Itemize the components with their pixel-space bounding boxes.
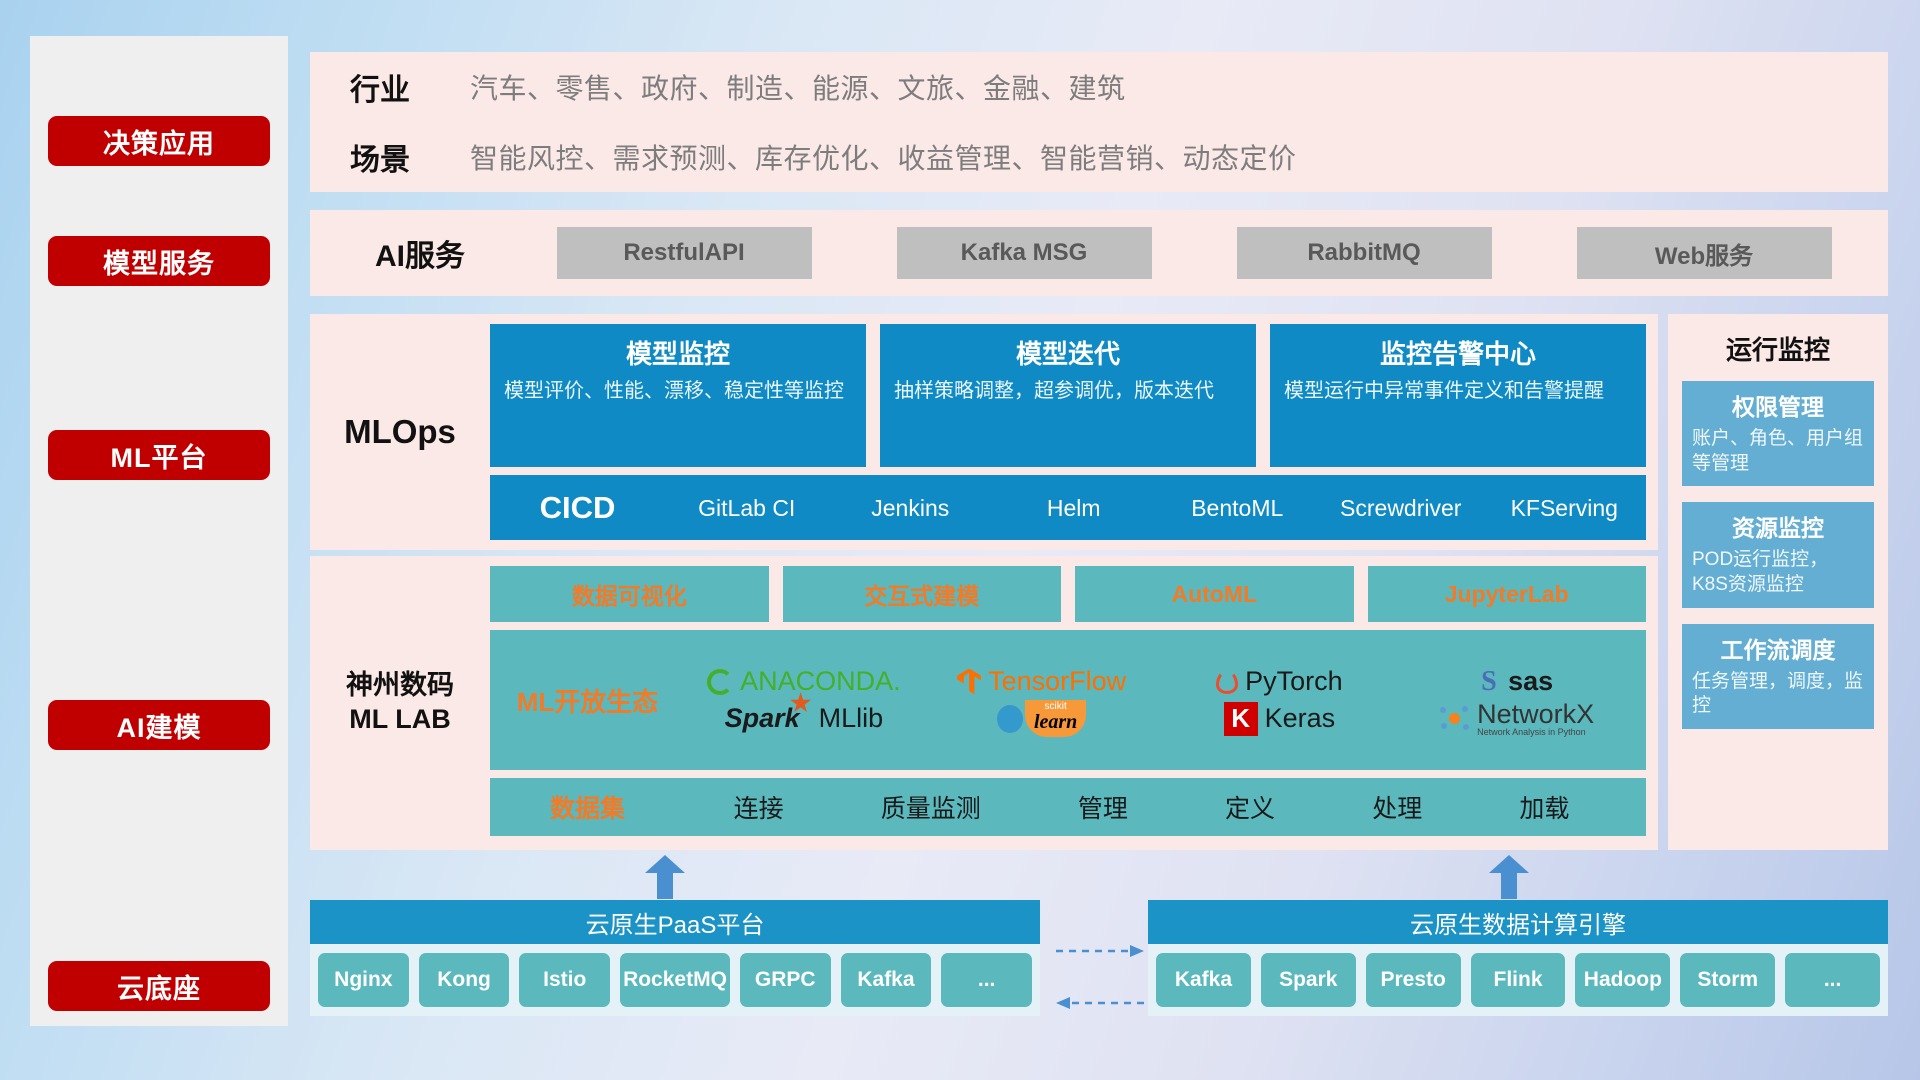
rail-item-label: ML平台 — [111, 436, 208, 475]
left-rail: 决策应用 模型服务 ML平台 AI建模 云底座 — [30, 36, 288, 1026]
anaconda-logo-text: ANACONDA. — [740, 666, 901, 697]
monitor-card-resource-monitoring[interactable]: 资源监控 POD运行监控，K8S资源监控 — [1682, 502, 1874, 607]
keras-mark-icon: K — [1224, 702, 1258, 736]
card-title: 工作流调度 — [1692, 631, 1864, 665]
paas-chip-more[interactable]: ... — [941, 953, 1032, 1007]
card-title: 监控告警中心 — [1284, 334, 1632, 371]
rail-item-ai-modeling[interactable]: AI建模 — [48, 700, 270, 750]
dataset-label: 数据集 — [490, 789, 685, 825]
tensorflow-logo-text: TensorFlow — [988, 666, 1126, 697]
ecosystem-logo-grid: ANACONDA. TensorFlow PyTorch S sas Spar — [685, 663, 1646, 737]
card-title: 模型迭代 — [894, 334, 1242, 371]
cloud-native-data-engine-chip-list: Kafka Spark Presto Flink Hadoop Storm ..… — [1148, 944, 1888, 1016]
sas-swirl-icon: S — [1481, 668, 1507, 696]
runtime-monitoring-title: 运行监控 — [1682, 330, 1874, 367]
upward-arrow-data-engine-icon — [1489, 855, 1529, 899]
cloud-native-paas-group: 云原生PaaS平台 Nginx Kong Istio RocketMQ GRPC… — [310, 900, 1040, 1016]
monitor-card-permission-management[interactable]: 权限管理 账户、角色、用户组等管理 — [1682, 381, 1874, 486]
mlops-band: MLOps 模型监控 模型评价、性能、漂移、稳定性等监控 模型迭代 抽样策略调整… — [310, 314, 1658, 550]
cicd-item-jenkins[interactable]: Jenkins — [829, 496, 993, 520]
keras-logo: K Keras — [1224, 702, 1336, 736]
cloud-native-paas-chip-list: Nginx Kong Istio RocketMQ GRPC Kafka ... — [310, 944, 1040, 1016]
paas-chip-grpc[interactable]: GRPC — [740, 953, 831, 1007]
ml-open-ecosystem-label: ML开放生态 — [490, 682, 685, 719]
card-title: 模型监控 — [504, 334, 852, 371]
tool-data-visualization[interactable]: 数据可视化 — [490, 566, 769, 622]
tool-jupyterlab[interactable]: JupyterLab — [1368, 566, 1647, 622]
tool-automl[interactable]: AutoML — [1075, 566, 1354, 622]
tool-interactive-modeling[interactable]: 交互式建模 — [783, 566, 1062, 622]
cicd-row: CICD GitLab CI Jenkins Helm BentoML Scre… — [490, 475, 1646, 540]
ai-service-chip-kafka-msg[interactable]: Kafka MSG — [897, 227, 1152, 279]
networkx-logo-text: NetworkX — [1477, 699, 1594, 729]
card-desc: 任务管理，调度，监控 — [1692, 670, 1864, 719]
mlops-label: MLOps — [310, 314, 490, 550]
dashed-arrow-left-icon — [1056, 996, 1144, 1010]
networkx-tagline: Network Analysis in Python — [1477, 728, 1594, 737]
dataset-item-quality-monitoring[interactable]: 质量监测 — [881, 789, 981, 825]
card-desc: POD运行监控，K8S资源监控 — [1692, 548, 1864, 597]
dataset-item-loading[interactable]: 加载 — [1519, 789, 1569, 825]
upward-arrow-paas-icon — [645, 855, 685, 899]
cicd-item-screwdriver[interactable]: Screwdriver — [1319, 496, 1483, 520]
ai-service-chip-restfulapi[interactable]: RestfulAPI — [557, 227, 812, 279]
networkx-logo: NetworkX Network Analysis in Python — [1440, 701, 1594, 737]
monitor-card-workflow-scheduling[interactable]: 工作流调度 任务管理，调度，监控 — [1682, 624, 1874, 729]
dataset-item-connect[interactable]: 连接 — [734, 789, 784, 825]
ai-service-chip-web-service[interactable]: Web服务 — [1577, 227, 1832, 279]
mlops-card-list: 模型监控 模型评价、性能、漂移、稳定性等监控 模型迭代 抽样策略调整，超参调优，… — [490, 324, 1646, 467]
ai-service-chip-list: RestfulAPI Kafka MSG RabbitMQ Web服务 — [500, 227, 1888, 279]
scenario-row: 场景 智能风控、需求预测、库存优化、收益管理、智能营销、动态定价 — [310, 122, 1888, 192]
pytorch-logo: PyTorch — [1216, 666, 1343, 697]
sas-logo-text: sas — [1508, 666, 1553, 697]
dataset-item-list: 连接 质量监测 管理 定义 处理 加载 — [685, 789, 1646, 825]
dataset-item-processing[interactable]: 处理 — [1372, 789, 1422, 825]
mlops-content: 模型监控 模型评价、性能、漂移、稳定性等监控 模型迭代 抽样策略调整，超参调优，… — [490, 314, 1658, 550]
cicd-item-kfserving[interactable]: KFServing — [1483, 496, 1647, 520]
engine-chip-hadoop[interactable]: Hadoop — [1575, 953, 1670, 1007]
scenario-values: 智能风控、需求预测、库存优化、收益管理、智能营销、动态定价 — [470, 137, 1297, 177]
ml-lab-label-line1: 神州数码 — [346, 669, 454, 703]
card-title: 权限管理 — [1692, 388, 1864, 422]
ai-service-label: AI服务 — [340, 231, 500, 275]
scikit-learn-logo: scikitlearn — [997, 700, 1086, 737]
mlops-card-model-iteration[interactable]: 模型迭代 抽样策略调整，超参调优，版本迭代 — [880, 324, 1256, 467]
card-desc: 账户、角色、用户组等管理 — [1692, 427, 1864, 476]
anaconda-logo: ANACONDA. — [707, 666, 901, 697]
networkx-graph-icon — [1440, 706, 1470, 732]
engine-chip-storm[interactable]: Storm — [1680, 953, 1775, 1007]
dataset-row: 数据集 连接 质量监测 管理 定义 处理 加载 — [490, 778, 1646, 836]
ml-lab-label: 神州数码 ML LAB — [310, 556, 490, 850]
tensorflow-logo: TensorFlow — [957, 666, 1126, 697]
rail-item-decision-apps[interactable]: 决策应用 — [48, 116, 270, 166]
keras-logo-text: Keras — [1265, 703, 1336, 734]
rail-item-label: 模型服务 — [103, 242, 215, 281]
pytorch-flame-icon — [1216, 670, 1238, 694]
rail-item-label: 决策应用 — [103, 122, 215, 161]
ml-lab-content: 数据可视化 交互式建模 AutoML JupyterLab ML开放生态 ANA… — [490, 556, 1658, 850]
cicd-item-bentoml[interactable]: BentoML — [1156, 496, 1320, 520]
card-title: 资源监控 — [1692, 509, 1864, 543]
ml-lab-band: 神州数码 ML LAB 数据可视化 交互式建模 AutoML JupyterLa… — [310, 556, 1658, 850]
industry-values: 汽车、零售、政府、制造、能源、文旅、金融、建筑 — [470, 67, 1126, 107]
dataset-item-management[interactable]: 管理 — [1078, 789, 1128, 825]
anaconda-ring-icon — [707, 669, 733, 695]
card-desc: 模型评价、性能、漂移、稳定性等监控 — [504, 378, 852, 404]
paas-chip-istio[interactable]: Istio — [519, 953, 610, 1007]
mlops-card-model-monitoring[interactable]: 模型监控 模型评价、性能、漂移、稳定性等监控 — [490, 324, 866, 467]
rail-item-cloud-foundation[interactable]: 云底座 — [48, 961, 270, 1011]
engine-chip-flink[interactable]: Flink — [1471, 953, 1566, 1007]
runtime-monitoring-panel: 运行监控 权限管理 账户、角色、用户组等管理 资源监控 POD运行监控，K8S资… — [1668, 314, 1888, 850]
cicd-item-gitlab-ci[interactable]: GitLab CI — [665, 496, 829, 520]
cicd-label: CICD — [490, 490, 665, 526]
engine-chip-more[interactable]: ... — [1785, 953, 1880, 1007]
paas-chip-kafka[interactable]: Kafka — [841, 953, 932, 1007]
ai-service-chip-rabbitmq[interactable]: RabbitMQ — [1237, 227, 1492, 279]
spark-logo-text: Spark — [725, 703, 800, 733]
ml-open-ecosystem-row: ML开放生态 ANACONDA. TensorFlow PyTorch S sa… — [490, 630, 1646, 770]
industry-label: 行业 — [350, 65, 470, 109]
rail-item-label: 云底座 — [117, 967, 201, 1006]
paas-chip-kong[interactable]: Kong — [419, 953, 510, 1007]
cicd-item-helm[interactable]: Helm — [992, 496, 1156, 520]
mlops-card-alert-center[interactable]: 监控告警中心 模型运行中异常事件定义和告警提醒 — [1270, 324, 1646, 467]
ml-lab-label-line2: ML LAB — [349, 703, 451, 737]
cloud-native-paas-title: 云原生PaaS平台 — [310, 900, 1040, 944]
industry-row: 行业 汽车、零售、政府、制造、能源、文旅、金融、建筑 — [310, 52, 1888, 122]
engine-chip-spark[interactable]: Spark — [1261, 953, 1356, 1007]
rail-item-label: AI建模 — [117, 706, 202, 745]
tensorflow-mark-icon — [957, 669, 981, 695]
ml-lab-tool-list: 数据可视化 交互式建模 AutoML JupyterLab — [490, 566, 1646, 622]
engine-chip-presto[interactable]: Presto — [1366, 953, 1461, 1007]
mllib-logo-text: MLlib — [819, 703, 884, 734]
cloud-native-data-engine-group: 云原生数据计算引擎 Kafka Spark Presto Flink Hadoo… — [1148, 900, 1888, 1016]
dashed-arrow-right-icon — [1056, 944, 1144, 958]
paas-chip-nginx[interactable]: Nginx — [318, 953, 409, 1007]
spark-mllib-logo: Spark MLlib — [725, 703, 884, 734]
decision-applications-band: 行业 汽车、零售、政府、制造、能源、文旅、金融、建筑 场景 智能风控、需求预测、… — [310, 52, 1888, 192]
card-desc: 模型运行中异常事件定义和告警提醒 — [1284, 378, 1632, 404]
rail-item-model-service[interactable]: 模型服务 — [48, 236, 270, 286]
ai-service-band: AI服务 RestfulAPI Kafka MSG RabbitMQ Web服务 — [310, 210, 1888, 296]
scikit-blob-icon — [997, 705, 1023, 733]
scenario-label: 场景 — [350, 135, 470, 179]
rail-item-ml-platform[interactable]: ML平台 — [48, 430, 270, 480]
sas-logo: S sas — [1481, 666, 1553, 697]
dataset-item-definition[interactable]: 定义 — [1225, 789, 1275, 825]
pytorch-logo-text: PyTorch — [1245, 666, 1343, 697]
cloud-native-data-engine-title: 云原生数据计算引擎 — [1148, 900, 1888, 944]
scikit-learn-wordmark-icon: scikitlearn — [1025, 700, 1086, 737]
card-desc: 抽样策略调整，超参调优，版本迭代 — [894, 378, 1242, 404]
paas-chip-rocketmq[interactable]: RocketMQ — [620, 953, 730, 1007]
engine-chip-kafka[interactable]: Kafka — [1156, 953, 1251, 1007]
cicd-item-list: GitLab CI Jenkins Helm BentoML Screwdriv… — [665, 496, 1646, 520]
